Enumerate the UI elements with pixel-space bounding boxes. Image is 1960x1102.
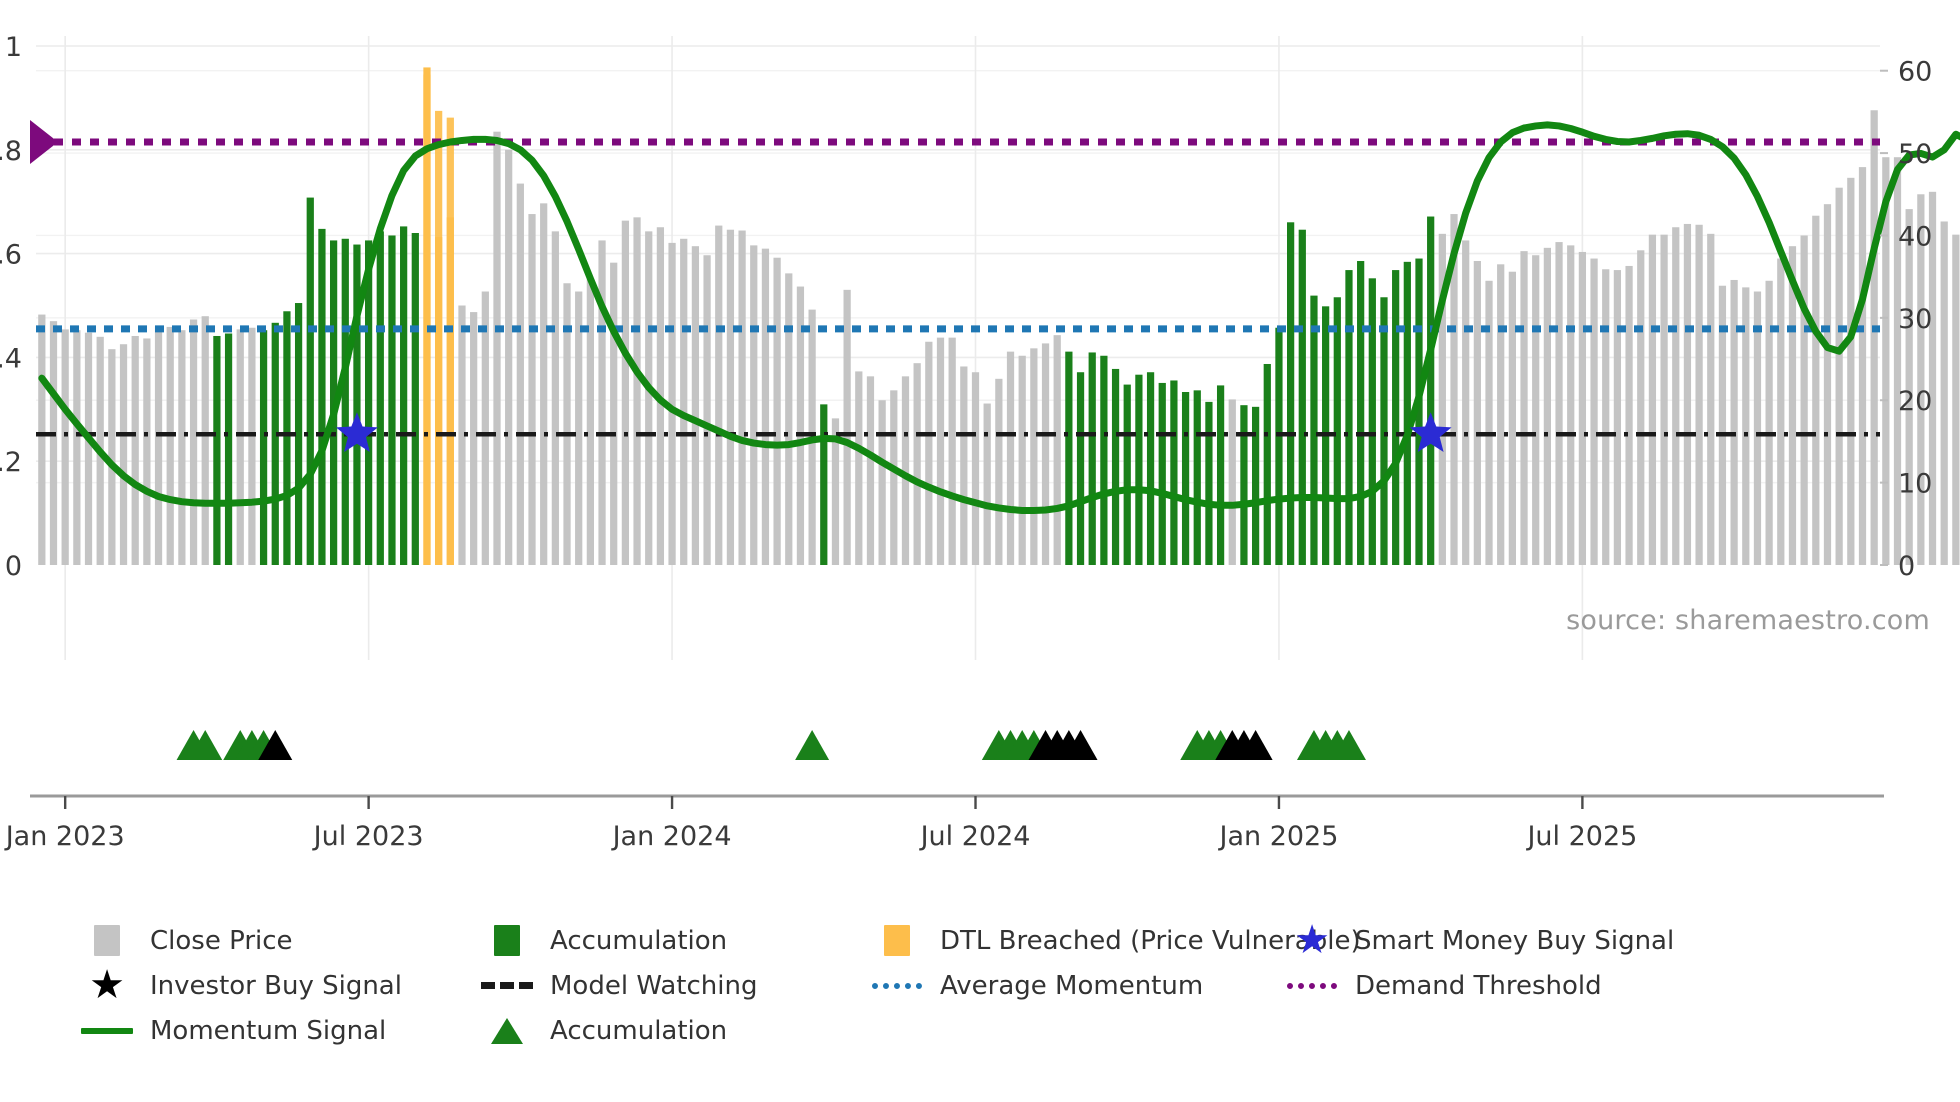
accumulation-triangle-icon [478, 1015, 536, 1046]
legend-item-smart-money-buy-signal[interactable]: ★Smart Money Buy Signal [1283, 925, 1674, 956]
bar-close-price [132, 336, 139, 565]
average-momentum-icon [868, 970, 926, 1001]
bar-close-price [505, 150, 512, 565]
legend-label: Investor Buy Signal [150, 971, 402, 1001]
legend-item-close-price[interactable]: Close Price [78, 925, 293, 956]
bar-close-price [867, 376, 874, 565]
bar-close-price [995, 379, 1002, 565]
bar-close-price [1847, 178, 1854, 565]
bar-accumulation [412, 233, 419, 565]
bar-close-price [844, 290, 851, 565]
bar-close-price [482, 291, 489, 565]
y-axis-right-label: 30 [1898, 304, 1932, 335]
bar-close-price [1941, 221, 1948, 565]
bar-close-price [1684, 224, 1691, 565]
bar-close-price [1695, 225, 1702, 565]
source-attribution: source: sharemaestro.com [1566, 605, 1930, 636]
y-axis-left-label: 0.4 [0, 343, 22, 374]
y-axis-left-label: 0.2 [0, 447, 22, 478]
bar-close-price [1836, 188, 1843, 565]
bar-close-price [190, 320, 197, 565]
close-price-swatch [94, 925, 120, 956]
bar-close-price [1859, 167, 1866, 565]
bar-close-price [248, 328, 255, 565]
legend-label: Accumulation [550, 1016, 727, 1046]
momentum-signal-swatch [81, 1028, 133, 1034]
bar-close-price [493, 132, 500, 565]
legend-label: Accumulation [550, 926, 727, 956]
bar-close-price [1777, 259, 1784, 565]
bar-close-price [984, 404, 991, 565]
bar-accumulation [1205, 402, 1212, 565]
bar-close-price [1801, 235, 1808, 565]
bar-close-price [715, 226, 722, 565]
bar-close-price [470, 312, 477, 565]
bar-close-price [517, 184, 524, 565]
demand-threshold-marker [30, 120, 58, 164]
accumulation-triangle-row [177, 730, 1366, 760]
bar-close-price [1602, 269, 1609, 565]
bar-close-price [855, 371, 862, 565]
bar-close-price [750, 245, 757, 565]
bar-close-price [972, 372, 979, 565]
x-axis-label: Jan 2025 [1217, 821, 1338, 852]
bar-close-price [738, 231, 745, 565]
bar-close-price [960, 366, 967, 565]
legend-row: Momentum SignalAccumulation [78, 1015, 1908, 1046]
y-axis-right-label: 40 [1898, 221, 1932, 252]
accumulation-triangle-swatch [491, 1018, 523, 1044]
bar-close-price [1474, 261, 1481, 565]
bar-close-price [598, 240, 605, 565]
bar-close-price [610, 263, 617, 565]
bar-close-price [167, 327, 174, 565]
bar-close-price [785, 273, 792, 565]
investor-buy-signal-swatch: ★ [89, 970, 125, 1001]
bar-accumulation [295, 303, 302, 565]
bar-dtl-breached [435, 111, 442, 565]
bar-close-price [528, 214, 535, 565]
bar-accumulation [1392, 270, 1399, 565]
bar-close-price [575, 291, 582, 565]
bar-close-price [1812, 216, 1819, 565]
bar-close-price [1730, 280, 1737, 565]
bar-close-price [692, 246, 699, 565]
x-axis-label: Jan 2023 [4, 821, 125, 852]
bar-dtl-breached [447, 118, 454, 565]
bar-close-price [1520, 251, 1527, 565]
y-axis-right-label: 20 [1898, 386, 1932, 417]
bar-accumulation [283, 311, 290, 565]
bar-accumulation [1264, 364, 1271, 565]
bar-close-price [633, 217, 640, 565]
bar-close-price [762, 249, 769, 565]
bar-accumulation [1194, 390, 1201, 565]
y-axis-left-label: 0.6 [0, 240, 22, 271]
y-axis-right-label: 0 [1898, 551, 1915, 582]
bar-accumulation [1100, 356, 1107, 565]
bar-close-price [1707, 234, 1714, 565]
bar-accumulation [342, 239, 349, 565]
bar-accumulation [1217, 385, 1224, 565]
bar-close-price [1019, 356, 1026, 565]
bar-accumulation [1159, 383, 1166, 565]
bar-accumulation [213, 336, 220, 565]
legend-item-average-momentum[interactable]: Average Momentum [868, 970, 1203, 1001]
chart-legend: Close PriceAccumulationDTL Breached (Pri… [78, 925, 1908, 1060]
bar-accumulation [1065, 352, 1072, 565]
bar-accumulation [1147, 372, 1154, 565]
bar-close-price [1229, 399, 1236, 565]
bar-accumulation [1345, 270, 1352, 565]
accumulation-triangle [795, 730, 829, 760]
bar-close-price [1894, 157, 1901, 565]
y-axis-left-label: 0.8 [0, 136, 22, 167]
legend-item-accumulation-bar[interactable]: Accumulation [478, 925, 727, 956]
bar-accumulation [1135, 375, 1142, 565]
x-axis-label: Jul 2023 [312, 821, 424, 852]
legend-label: Average Momentum [940, 971, 1203, 1001]
bar-close-price [1567, 245, 1574, 565]
bar-close-price [1824, 204, 1831, 565]
y-axis-right-label: 60 [1898, 57, 1932, 88]
bar-close-price [1532, 255, 1539, 565]
bar-accumulation [1357, 261, 1364, 565]
bar-accumulation [1299, 230, 1306, 565]
bar-close-price [727, 230, 734, 565]
bar-accumulation [377, 231, 384, 565]
bar-close-price [1952, 235, 1959, 565]
bar-accumulation [1427, 217, 1434, 565]
bar-accumulation [1369, 278, 1376, 565]
bar-close-price [937, 338, 944, 565]
legend-item-investor-buy-signal[interactable]: ★Investor Buy Signal [78, 970, 402, 1001]
bar-close-price [1871, 110, 1878, 565]
bar-close-price [50, 321, 57, 565]
bar-close-price [1555, 242, 1562, 565]
bar-close-price [587, 278, 594, 565]
bar-close-price [552, 231, 559, 565]
bar-close-price [1766, 281, 1773, 565]
bar-close-price [1042, 343, 1049, 565]
legend-label: Close Price [150, 926, 293, 956]
bar-close-price [1625, 266, 1632, 565]
demand-threshold-swatch [1287, 983, 1337, 989]
bar-accumulation [1287, 222, 1294, 565]
bar-close-price [622, 221, 629, 565]
bar-close-price [143, 338, 150, 565]
legend-item-model-watching[interactable]: Model Watching [478, 970, 757, 1001]
bar-close-price [73, 330, 80, 565]
bar-close-price [1030, 348, 1037, 565]
legend-row: Close PriceAccumulationDTL Breached (Pri… [78, 925, 1908, 956]
bar-close-price [237, 329, 244, 565]
y-axis-left-label: 0 [5, 551, 22, 582]
bar-close-price [879, 400, 886, 565]
bar-accumulation [1089, 352, 1096, 565]
accumulation-bar-swatch [494, 925, 520, 956]
bar-close-price [773, 258, 780, 565]
x-axis-label: Jul 2024 [919, 821, 1031, 852]
demand-threshold-icon [1283, 970, 1341, 1001]
bar-accumulation [1077, 372, 1084, 565]
bar-accumulation [1182, 392, 1189, 565]
investor-buy-signal-icon: ★ [78, 970, 136, 1001]
bar-close-price [1462, 240, 1469, 565]
legend-item-accumulation-triangle[interactable]: Accumulation [478, 1015, 727, 1046]
legend-label: Smart Money Buy Signal [1355, 926, 1674, 956]
model-watching-icon [478, 970, 536, 1001]
bar-accumulation [318, 229, 325, 565]
bar-close-price [1497, 264, 1504, 565]
bar-close-price [1660, 235, 1667, 565]
dtl-breached-swatch [884, 925, 910, 956]
bar-accumulation [1404, 262, 1411, 565]
legend-row: ★Investor Buy SignalModel WatchingAverag… [78, 970, 1908, 1001]
x-axis-label: Jan 2024 [611, 821, 732, 852]
bar-accumulation [400, 226, 407, 565]
bar-accumulation [1275, 328, 1282, 565]
dtl-breached-icon [868, 925, 926, 956]
bar-accumulation [820, 404, 827, 565]
bar-close-price [178, 330, 185, 565]
bar-close-price [949, 338, 956, 565]
bar-close-price [540, 203, 547, 565]
bar-close-price [890, 390, 897, 565]
bar-close-price [1544, 248, 1551, 565]
bar-close-price [914, 363, 921, 565]
legend-label: Momentum Signal [150, 1016, 386, 1046]
bar-close-price [1649, 235, 1656, 565]
bar-close-price [1590, 259, 1597, 565]
chart-page: Jan 2023Jul 2023Jan 2024Jul 2024Jan 2025… [0, 0, 1960, 1102]
bar-close-price [1054, 335, 1061, 565]
bar-accumulation [1334, 297, 1341, 565]
close-price-icon [78, 925, 136, 956]
bar-accumulation [1240, 405, 1247, 565]
average-momentum-swatch [872, 983, 922, 989]
bar-close-price [202, 316, 209, 565]
bar-close-price [85, 333, 92, 565]
bar-close-price [703, 255, 710, 565]
bar-accumulation [388, 235, 395, 565]
bar-accumulation [1310, 296, 1317, 565]
y-axis-right-label: 10 [1898, 469, 1932, 500]
bar-close-price [62, 329, 69, 565]
momentum-signal-icon [78, 1015, 136, 1046]
bar-accumulation [1170, 380, 1177, 565]
bar-close-price [120, 344, 127, 565]
bar-close-price [645, 231, 652, 565]
legend-label: Demand Threshold [1355, 971, 1602, 1001]
smart-money-buy-signal-icon: ★ [1283, 925, 1341, 956]
legend-label: Model Watching [550, 971, 757, 1001]
bar-accumulation [307, 198, 314, 565]
bar-accumulation [1112, 369, 1119, 565]
bar-accumulation [1380, 297, 1387, 565]
y-axis-right-label: 50 [1898, 139, 1932, 170]
bar-close-price [1754, 291, 1761, 565]
bar-close-price [1509, 272, 1516, 565]
bar-close-price [680, 239, 687, 565]
bar-close-price [1007, 352, 1014, 565]
model-watching-swatch [481, 982, 533, 989]
bar-close-price [1614, 270, 1621, 565]
y-axis-left-label: 1 [5, 32, 22, 63]
bar-close-price [1485, 281, 1492, 565]
bar-close-price [1579, 252, 1586, 565]
bar-accumulation [272, 323, 279, 565]
bar-close-price [1637, 250, 1644, 565]
bar-close-price [925, 342, 932, 565]
smart-money-buy-signal-swatch: ★ [1294, 925, 1330, 956]
x-axis-label: Jul 2025 [1525, 821, 1637, 852]
bar-close-price [155, 326, 162, 565]
legend-item-demand-threshold[interactable]: Demand Threshold [1283, 970, 1602, 1001]
bar-accumulation [1252, 407, 1259, 565]
bar-close-price [1672, 227, 1679, 565]
accumulation-bar-icon [478, 925, 536, 956]
legend-item-momentum-signal[interactable]: Momentum Signal [78, 1015, 386, 1046]
bar-accumulation [1124, 385, 1131, 565]
bar-accumulation [225, 334, 232, 565]
bar-accumulation [260, 330, 267, 565]
bar-close-price [38, 315, 45, 565]
